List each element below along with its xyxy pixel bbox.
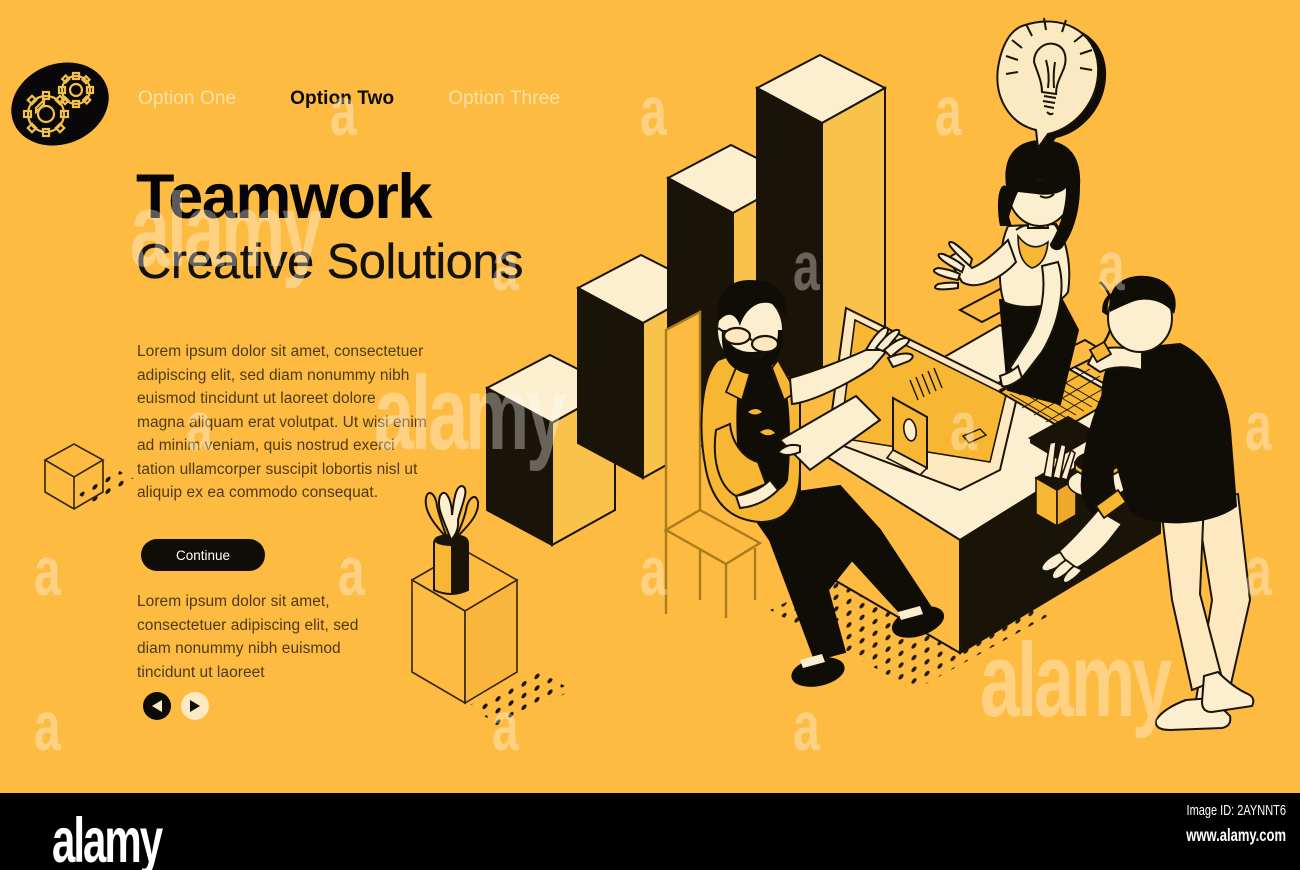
alamy-logo-text: alamy [52, 805, 161, 870]
gears-icon [8, 56, 113, 152]
plant-pot [434, 534, 468, 595]
page-title: Teamwork [136, 166, 431, 229]
page-subtitle: Creative Solutions [136, 236, 523, 290]
alamy-url-label: www.alamy.com [1186, 825, 1286, 845]
carousel-controls [143, 692, 209, 720]
footer-meta: Image ID: 2AYNNT6 www.alamy.com [1186, 803, 1286, 840]
plant-leaves [426, 486, 478, 540]
floor-shadow-dots-cube [72, 469, 136, 503]
alamy-footer-bar: alamy Image ID: 2AYNNT6 www.alamy.com [0, 793, 1300, 870]
hero-stage: Option One Option Two Option Three Teamw… [0, 0, 1300, 793]
main-nav: Option One Option Two Option Three [138, 88, 560, 110]
nav-item-option-two[interactable]: Option Two [290, 88, 394, 110]
nav-item-option-one[interactable]: Option One [138, 88, 236, 110]
thought-bubble [997, 18, 1106, 152]
carousel-next-button[interactable] [181, 692, 209, 720]
image-id-label: Image ID: 2AYNNT6 [1186, 803, 1286, 819]
nav-item-option-three[interactable]: Option Three [448, 88, 560, 110]
carousel-prev-button[interactable] [143, 692, 171, 720]
continue-button[interactable]: Continue [141, 539, 265, 571]
body-paragraph-two: Lorem ipsum dolor sit amet, consectetuer… [137, 590, 367, 684]
body-paragraph-one: Lorem ipsum dolor sit amet, consectetuer… [137, 340, 427, 505]
chevron-right-icon [189, 699, 201, 713]
chevron-left-icon [151, 699, 163, 713]
brand-logo[interactable] [8, 56, 113, 152]
